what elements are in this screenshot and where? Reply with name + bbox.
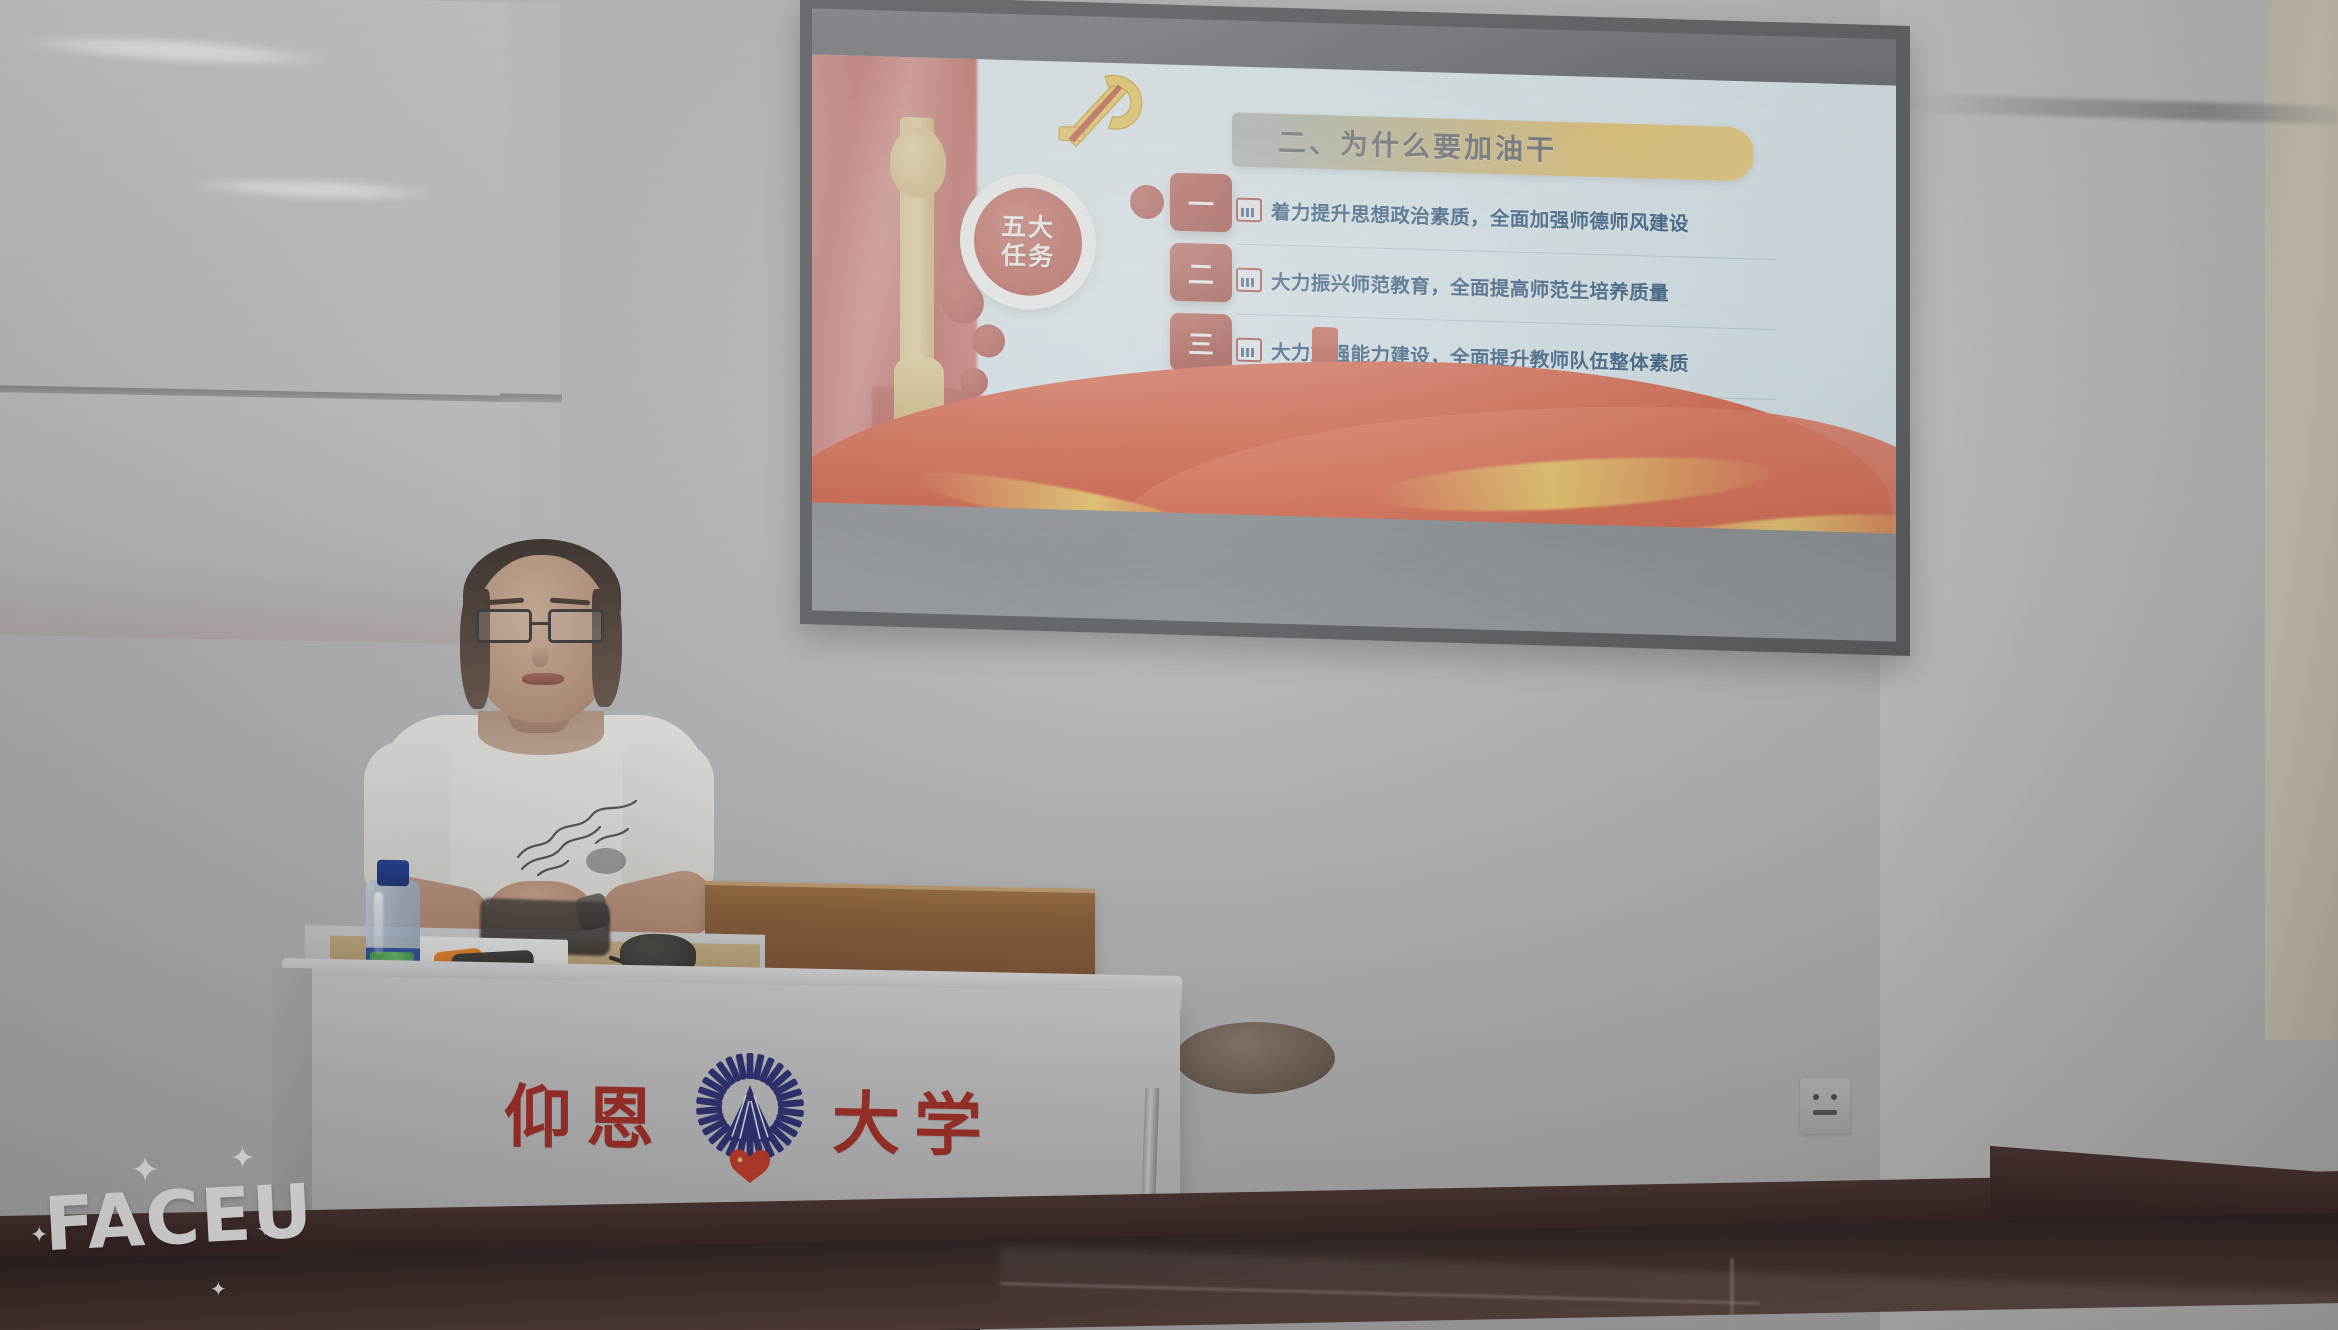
badge-line-2: 任务: [1001, 241, 1055, 272]
projection-screen-surface: 二、为什么要加油干 五大 任务: [812, 8, 1896, 641]
slide-number-box: 一: [1170, 173, 1232, 233]
badge-line-1: 五大: [1001, 212, 1055, 243]
presenter-mouth: [522, 673, 564, 685]
lectern-branding: 仰恩: [470, 1034, 1030, 1195]
wall-pillar: [2265, 0, 2338, 1040]
person-chart-icon: [1236, 267, 1262, 292]
yangen-university-radial-logo: [690, 1044, 810, 1186]
presenter-hair-side: [592, 589, 622, 707]
floor-seam: [1730, 1258, 1734, 1330]
badge-dot: [942, 281, 984, 324]
whiteboard-glare: [190, 173, 435, 205]
slide-number-box: 二: [1170, 243, 1232, 303]
slide-title-text: 二、为什么要加油干: [1278, 121, 1557, 169]
slide-item-text: 着力提升思想政治素质，全面加强师德师风建设: [1271, 196, 1689, 237]
bottle-cap: [377, 860, 409, 887]
slide-flagpole-finial: [890, 127, 946, 199]
eyeglasses: [476, 609, 608, 643]
university-name-right: 大学: [832, 1067, 996, 1169]
stool-seat: [1175, 1022, 1335, 1094]
party-hammer-sickle-emblem: [1044, 67, 1162, 156]
badge-dot: [1130, 185, 1164, 220]
chart-board-icon: [1236, 197, 1262, 222]
classroom-photo-scene: 二、为什么要加油干 五大 任务: [0, 0, 2338, 1330]
slide-item-text: 大力振兴师范教育，全面提高师范生培养质量: [1271, 266, 1669, 306]
lectern-side-panel: [272, 968, 312, 1249]
university-name-left: 仰恩: [504, 1061, 668, 1163]
projection-screen: 二、为什么要加油干 五大 任务: [800, 0, 1910, 656]
slide-title-bar: 二、为什么要加油干: [1232, 112, 1754, 181]
presenter-hair-side: [460, 589, 490, 709]
gear-person-icon: [1236, 337, 1262, 362]
presenter-nose: [532, 645, 548, 667]
tshirt-graphic-print: [510, 787, 650, 893]
five-tasks-badge: 五大 任务: [960, 172, 1096, 312]
slide-number-box: 三: [1170, 313, 1232, 373]
wall-outlet: [1800, 1078, 1850, 1134]
badge-dot: [960, 368, 988, 397]
whiteboard-glare: [18, 29, 329, 73]
badge-dot: [972, 324, 1005, 358]
